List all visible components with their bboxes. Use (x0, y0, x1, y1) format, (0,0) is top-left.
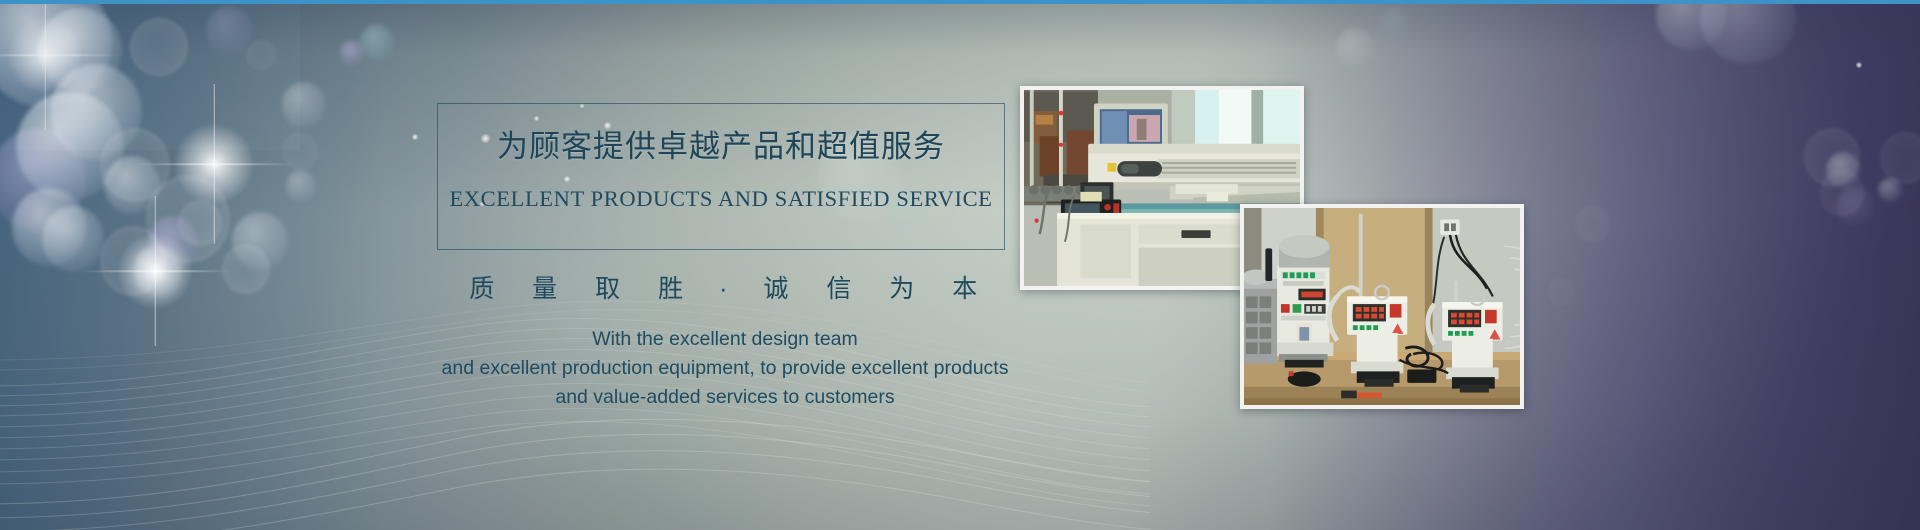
headline-frame-border (437, 103, 1005, 250)
photo-press-machines[interactable] (1240, 204, 1524, 409)
slogan-char: 量 (520, 277, 573, 302)
paragraph-line: and excellent production equipment, to p… (330, 354, 1120, 383)
slogan-separator: · (709, 277, 741, 302)
top-accent-rule (0, 0, 1920, 4)
description-paragraph: With the excellent design team and excel… (330, 325, 1120, 412)
paragraph-line: With the excellent design team (330, 325, 1120, 354)
slogan-char: 质 (457, 277, 510, 302)
slogan-char: 诚 (751, 277, 804, 302)
slogan-chinese: 质 量 取 胜 · 诚 信 为 本 (380, 277, 1070, 302)
slogan-char: 为 (877, 277, 930, 302)
paragraph-line: and value-added services to customers (330, 383, 1120, 412)
promo-banner: 为顾客提供卓越产品和超值服务 EXCELLENT PRODUCTS AND SA… (0, 0, 1920, 530)
slogan-char: 胜 (646, 277, 699, 302)
headline-english: EXCELLENT PRODUCTS AND SATISFIED SERVICE (437, 188, 1005, 211)
headline-chinese: 为顾客提供卓越产品和超值服务 (437, 131, 1005, 162)
slogan-char: 本 (940, 277, 993, 302)
slogan-char: 取 (583, 277, 636, 302)
slogan-char: 信 (814, 277, 867, 302)
